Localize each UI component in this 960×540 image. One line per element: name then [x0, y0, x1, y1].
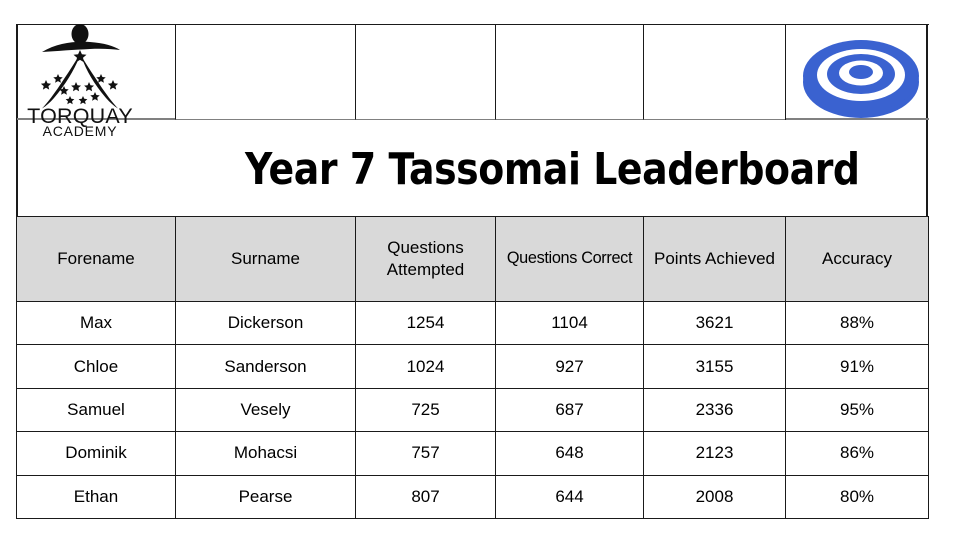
table-header-row: Forename Surname Questions Attempted Que… [17, 217, 929, 302]
cell-questions-correct: 927 [496, 345, 644, 388]
cell-forename: Samuel [17, 388, 176, 431]
column-header-questions-correct[interactable]: Questions Correct [496, 217, 644, 302]
table-row: Ethan Pearse 807 644 2008 80% [17, 475, 929, 518]
table-row: Dominik Mohacsi 757 648 2123 86% [17, 432, 929, 475]
banner-cell-empty-1 [175, 24, 355, 120]
cell-surname: Dickerson [176, 302, 356, 345]
cell-questions-attempted: 725 [356, 388, 496, 431]
cell-forename: Dominik [17, 432, 176, 475]
mark-cell-top-rule [786, 24, 929, 25]
column-header-questions-attempted[interactable]: Questions Attempted [356, 217, 496, 302]
cell-points-achieved: 2008 [644, 475, 786, 518]
cell-surname: Pearse [176, 475, 356, 518]
cell-questions-attempted: 757 [356, 432, 496, 475]
table-header: Forename Surname Questions Attempted Que… [17, 217, 929, 302]
banner-cell-empty-4 [643, 24, 785, 120]
cell-questions-attempted: 807 [356, 475, 496, 518]
banner-cell-empty-2 [355, 24, 495, 120]
table-row: Chloe Sanderson 1024 927 3155 91% [17, 345, 929, 388]
cell-surname: Mohacsi [176, 432, 356, 475]
column-header-forename[interactable]: Forename [17, 217, 176, 302]
cell-points-achieved: 2336 [644, 388, 786, 431]
column-header-points-achieved[interactable]: Points Achieved [644, 217, 786, 302]
cell-forename: Ethan [17, 475, 176, 518]
torquay-academy-logo-icon: TORQUAY ACADEMY [24, 22, 136, 138]
cell-questions-attempted: 1024 [356, 345, 496, 388]
banner-cell-empty-3 [495, 24, 643, 120]
cell-questions-correct: 687 [496, 388, 644, 431]
tassomai-target-icon [800, 28, 922, 120]
title-band: Year 7 Tassomai Leaderboard [176, 128, 928, 212]
cell-surname: Vesely [176, 388, 356, 431]
cell-accuracy: 88% [786, 302, 929, 345]
cell-questions-correct: 644 [496, 475, 644, 518]
leaderboard-slide: TORQUAY ACADEMY Year 7 Tassomai Leaderbo… [0, 0, 960, 540]
cell-points-achieved: 3155 [644, 345, 786, 388]
banner-grid [16, 24, 928, 120]
leaderboard-table: Forename Surname Questions Attempted Que… [16, 216, 929, 519]
table-body: Max Dickerson 1254 1104 3621 88% Chloe S… [17, 302, 929, 519]
cell-forename: Max [17, 302, 176, 345]
column-header-surname[interactable]: Surname [176, 217, 356, 302]
cell-questions-correct: 1104 [496, 302, 644, 345]
column-header-accuracy[interactable]: Accuracy [786, 217, 929, 302]
cell-surname: Sanderson [176, 345, 356, 388]
table-row: Samuel Vesely 725 687 2336 95% [17, 388, 929, 431]
cell-questions-attempted: 1254 [356, 302, 496, 345]
cell-points-achieved: 3621 [644, 302, 786, 345]
cell-forename: Chloe [17, 345, 176, 388]
logo-wordmark-secondary: ACADEMY [43, 123, 118, 138]
cell-accuracy: 80% [786, 475, 929, 518]
cell-questions-correct: 648 [496, 432, 644, 475]
cell-accuracy: 91% [786, 345, 929, 388]
page-title: Year 7 Tassomai Leaderboard [245, 148, 860, 192]
cell-accuracy: 95% [786, 388, 929, 431]
cell-points-achieved: 2123 [644, 432, 786, 475]
table-row: Max Dickerson 1254 1104 3621 88% [17, 302, 929, 345]
cell-accuracy: 86% [786, 432, 929, 475]
